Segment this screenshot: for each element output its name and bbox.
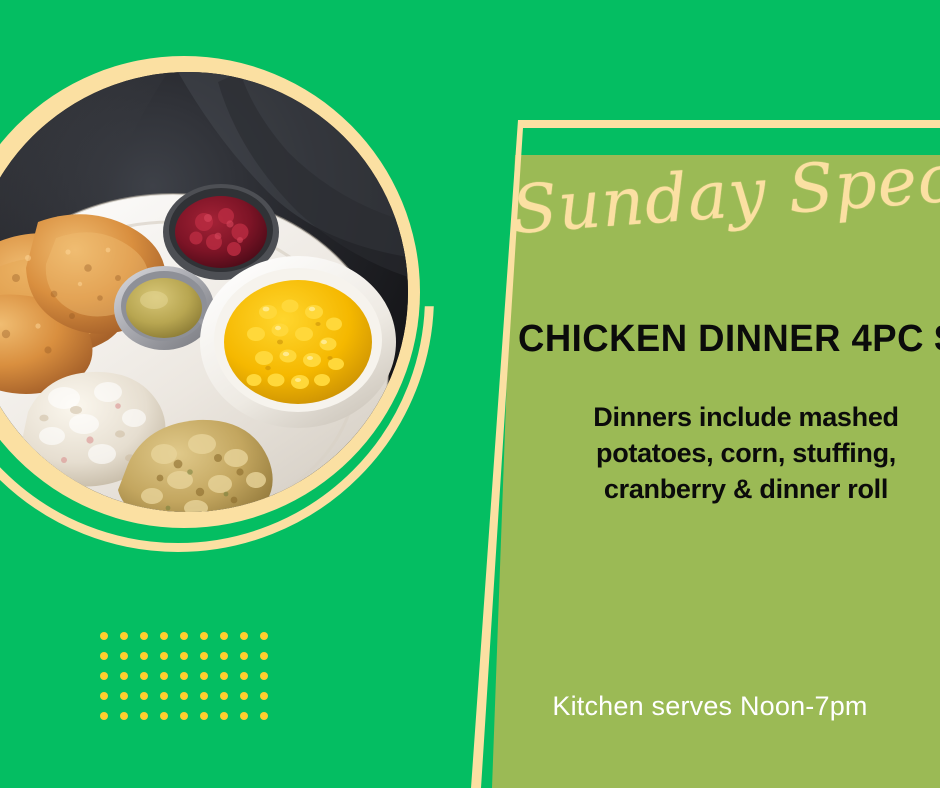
dot [160, 632, 168, 640]
dot [240, 672, 248, 680]
dot-row [100, 692, 280, 712]
dot [180, 712, 188, 720]
dot [180, 652, 188, 660]
dot [220, 632, 228, 640]
dot [160, 652, 168, 660]
dot [140, 632, 148, 640]
dot [220, 652, 228, 660]
dot [200, 692, 208, 700]
dot [260, 632, 268, 640]
dot [220, 712, 228, 720]
dot [140, 712, 148, 720]
dot [220, 672, 228, 680]
dot [200, 652, 208, 660]
dot [140, 692, 148, 700]
dot-row [100, 712, 280, 732]
dot [180, 632, 188, 640]
dot [260, 712, 268, 720]
dot-row [100, 652, 280, 672]
dot [100, 672, 108, 680]
dot [120, 652, 128, 660]
dot [120, 712, 128, 720]
dot [240, 712, 248, 720]
dot [100, 712, 108, 720]
dot [240, 652, 248, 660]
dot [100, 632, 108, 640]
dot [140, 652, 148, 660]
dot [200, 632, 208, 640]
dot [160, 712, 168, 720]
promotional-poster: Sunday Special CHICKEN DINNER 4PC $14 Di… [0, 0, 940, 788]
dot [220, 692, 228, 700]
dot [100, 652, 108, 660]
dot [120, 672, 128, 680]
dot [100, 692, 108, 700]
dot [180, 692, 188, 700]
dot [180, 672, 188, 680]
dot-row [100, 672, 280, 692]
dot [260, 692, 268, 700]
dot [140, 672, 148, 680]
dot [120, 692, 128, 700]
dot [240, 632, 248, 640]
dot [200, 672, 208, 680]
dot [240, 692, 248, 700]
kitchen-hours: Kitchen serves Noon-7pm [500, 693, 920, 720]
headline: CHICKEN DINNER 4PC $14 [518, 320, 902, 358]
dot [260, 672, 268, 680]
dot-row [100, 632, 280, 652]
dot [160, 692, 168, 700]
dot-grid-decoration [100, 632, 280, 732]
dot [200, 712, 208, 720]
dot [160, 672, 168, 680]
dot [120, 632, 128, 640]
dot [260, 652, 268, 660]
description-text: Dinners include mashed potatoes, corn, s… [560, 400, 932, 508]
